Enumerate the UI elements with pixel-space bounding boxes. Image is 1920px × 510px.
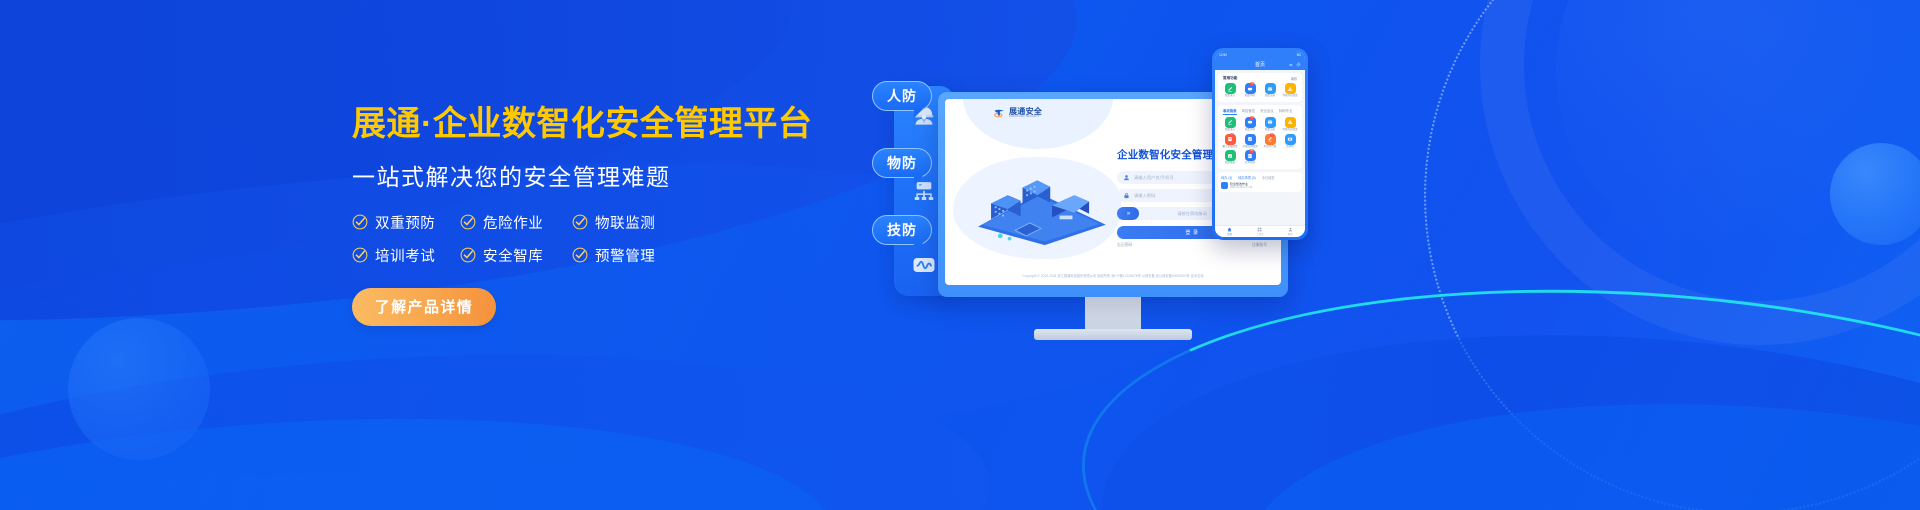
app-label: 拍单机: [1286, 146, 1294, 149]
fix-icon: [1225, 150, 1236, 161]
mail-icon: [1265, 83, 1276, 94]
list-item[interactable]: 隐患整改作业 2024-05-28 11:41:28: [1221, 182, 1299, 189]
feature-item: 双重预防: [352, 212, 460, 233]
hero-copy: 展通·企业数智化安全管理平台 一站式解决您的安全管理难题 双重预防 危险作业: [352, 104, 822, 326]
tag-wufang[interactable]: 物防: [872, 148, 932, 178]
feature-item: 物联监测: [572, 212, 822, 233]
app-tile[interactable]: 2 重大事故隐患: [1220, 134, 1240, 149]
app-label: 特殊作业隐患: [1282, 129, 1297, 132]
check-circle-icon: [352, 247, 368, 263]
app-label: 隐患录入: [1225, 95, 1235, 98]
tag-jifang[interactable]: 技防: [872, 215, 932, 245]
app-tile[interactable]: 特殊作业隐患: [1280, 83, 1300, 98]
brand-text: 展通安全 ZHANTONG SECURITY: [1009, 108, 1042, 119]
feature-item: 预警管理: [572, 245, 822, 266]
section-tabs: 事故隐患 风险管控 安全会议 特种作业: [1220, 108, 1300, 117]
app-tile[interactable]: 特殊作业隐患: [1280, 117, 1300, 132]
section-title: 常用功能: [1223, 76, 1237, 81]
section-edit-link[interactable]: 编辑: [1291, 76, 1297, 81]
device-illustration: + +: [890, 0, 1920, 510]
item-avatar: [1221, 182, 1228, 189]
app-tile[interactable]: 环境监测隐患: [1240, 134, 1260, 149]
tabbar-label: 我的: [1288, 232, 1293, 236]
monitor-stand-neck: [1085, 295, 1141, 331]
grid-icon: [1257, 227, 1262, 232]
bg-circle-lower-left: [68, 318, 210, 460]
todo-tab-items[interactable]: 待办事项 (0): [1238, 175, 1256, 180]
app-tile[interactable]: 5 复查不合格: [1260, 134, 1280, 149]
app-label: 环境监测隐患: [1242, 146, 1257, 149]
learn-more-button[interactable]: 了解产品详情: [352, 288, 496, 326]
tabbar-workbench[interactable]: 工作台: [1256, 227, 1263, 237]
tabbar-home[interactable]: 首页: [1227, 227, 1232, 237]
password-placeholder: 请输入密码: [1134, 193, 1155, 199]
check-circle-icon: [572, 214, 588, 230]
badge-count: 5: [1270, 133, 1274, 137]
mobile-phone: 12:50 5G 首页 ••• 常用功能 编辑: [1212, 48, 1308, 240]
user-icon: [1123, 174, 1130, 181]
app-tile[interactable]: 拍单机: [1280, 134, 1300, 149]
register-link[interactable]: 注册账号: [1252, 243, 1267, 248]
item-time: 2024-05-28 11:41:28: [1230, 186, 1252, 189]
section-header: 常用功能 编辑: [1220, 76, 1300, 83]
phone-screen: 12:50 5G 首页 ••• 常用功能 编辑: [1215, 51, 1305, 237]
app-tile[interactable]: 3 隐患中转: [1240, 117, 1260, 132]
feature-label: 危险作业: [483, 212, 543, 233]
todo-tab-pending[interactable]: 待办 (3): [1221, 175, 1232, 180]
tab-hazard[interactable]: 事故隐患: [1223, 108, 1237, 115]
feature-list: 双重预防 危险作业 物联监测: [352, 212, 822, 266]
app-label: 特殊作业隐患: [1282, 95, 1297, 98]
screen-copyright: Copyright © 2019-2024 浙江展通科技股份有限公司 版权所有 …: [945, 273, 1281, 278]
app-label: 复查不合格: [1264, 146, 1277, 149]
feature-item: 安全智库: [460, 245, 572, 266]
isometric-city-illustration: [967, 173, 1115, 247]
username-placeholder: 请输入用户名/手机号: [1134, 175, 1174, 181]
app-label: 隐患记录: [1265, 129, 1275, 132]
login-links: 忘记密码 注册账号: [1117, 243, 1267, 248]
app-tile[interactable]: 隐患记录: [1260, 117, 1280, 132]
app-grid: 隐患录入 3 隐患中转: [1220, 83, 1300, 98]
tag-renfang[interactable]: 人防: [872, 81, 932, 111]
bg-band-bottom-left: [0, 317, 1000, 510]
page-subtitle: 一站式解决您的安全管理难题: [352, 158, 822, 192]
tabbar-label: 工作台: [1256, 232, 1263, 236]
app-label: 隐患记录: [1265, 95, 1275, 98]
tab-meeting[interactable]: 安全会议: [1260, 108, 1274, 115]
feature-label: 双重预防: [375, 212, 435, 233]
hero-banner: 展通·企业数智化安全管理平台 一站式解决您的安全管理难题 双重预防 危险作业: [0, 0, 1920, 510]
tab-special-work[interactable]: 特种作业: [1279, 108, 1293, 115]
phone-nav-title: 首页: [1255, 61, 1265, 68]
app-tile[interactable]: 10 任务指派: [1240, 150, 1260, 165]
monitor-stand-base: [1034, 329, 1192, 340]
edit-icon: [1225, 117, 1236, 128]
brand-mark-icon: [993, 107, 1006, 120]
platform-logo: 展通安全 ZHANTONG SECURITY: [993, 107, 1042, 120]
todo-tab-today[interactable]: 今日动态: [1262, 175, 1275, 180]
warning-icon: [1285, 117, 1296, 128]
user-icon: [1288, 227, 1293, 232]
badge-count: 3: [1250, 82, 1254, 86]
app-label: 隐患中转: [1245, 129, 1255, 132]
badge-count: 3: [1250, 116, 1254, 120]
status-signal: 5G: [1297, 53, 1301, 57]
warning-icon: [1285, 83, 1296, 94]
tabbar-profile[interactable]: 我的: [1288, 227, 1293, 237]
check-circle-icon: [460, 247, 476, 263]
item-text: 隐患整改作业 2024-05-28 11:41:28: [1230, 182, 1252, 189]
check-circle-icon: [460, 214, 476, 230]
feature-label: 安全智库: [483, 245, 543, 266]
forgot-password-link[interactable]: 忘记密码: [1117, 243, 1132, 248]
phone-section-hazards: 事故隐患 风险管控 安全会议 特种作业 隐患录入 3: [1218, 105, 1302, 169]
check-circle-icon: [572, 247, 588, 263]
page-title: 展通·企业数智化安全管理平台: [352, 104, 822, 145]
tab-risk[interactable]: 风险管控: [1242, 108, 1256, 115]
app-label: 隐患录入: [1225, 129, 1235, 132]
feature-label: 预警管理: [595, 245, 655, 266]
feature-item: 培训考试: [352, 245, 460, 266]
app-tile[interactable]: 隐患记录: [1260, 83, 1280, 98]
feature-item: 危险作业: [460, 212, 572, 233]
waveform-icon: [910, 251, 938, 279]
chart-icon: [1245, 134, 1256, 145]
home-icon: [1227, 227, 1232, 232]
app-label: 隐患中转: [1245, 95, 1255, 98]
edit-icon: [1225, 83, 1236, 94]
camera-icon: [1285, 134, 1296, 145]
more-dots-icon[interactable]: •••: [1289, 62, 1292, 67]
phone-section-common: 常用功能 编辑 隐患录入 3: [1218, 73, 1302, 102]
app-tile[interactable]: 隐患整改: [1220, 150, 1240, 165]
badge-count: 2: [1230, 133, 1234, 137]
todo-tabs: 待办 (3) 待办事项 (0) 今日动态: [1221, 175, 1299, 182]
phone-status-bar: 12:50 5G: [1215, 51, 1305, 59]
tabbar-label: 首页: [1227, 232, 1232, 236]
lock-icon: [1123, 192, 1130, 199]
phone-nav-bar: 首页 •••: [1215, 59, 1305, 70]
phone-tab-bar: 首页 工作台 我的: [1215, 225, 1305, 237]
phone-todo-list: 待办 (3) 待办事项 (0) 今日动态 隐患整改作业 2024-05-28 1…: [1218, 172, 1302, 192]
check-circle-icon: [352, 214, 368, 230]
bg-band-bottom-left-2: [0, 379, 851, 510]
app-tile[interactable]: 3 隐患中转: [1240, 83, 1260, 98]
status-time: 12:50: [1219, 53, 1227, 57]
gear-icon[interactable]: [1296, 62, 1301, 67]
app-tile[interactable]: 隐患录入: [1220, 83, 1240, 98]
app-tile[interactable]: 隐患录入: [1220, 117, 1240, 132]
app-label: 隐患整改: [1225, 162, 1235, 165]
brand-tagline: ZHANTONG SECURITY: [1009, 116, 1042, 119]
app-label: 任务指派: [1245, 162, 1255, 165]
feature-label: 物联监测: [595, 212, 655, 233]
feature-label: 培训考试: [375, 245, 435, 266]
app-grid: 隐患录入 3 隐患中转: [1220, 117, 1300, 165]
mail-icon: [1265, 117, 1276, 128]
app-label: 重大事故隐患: [1222, 146, 1237, 149]
